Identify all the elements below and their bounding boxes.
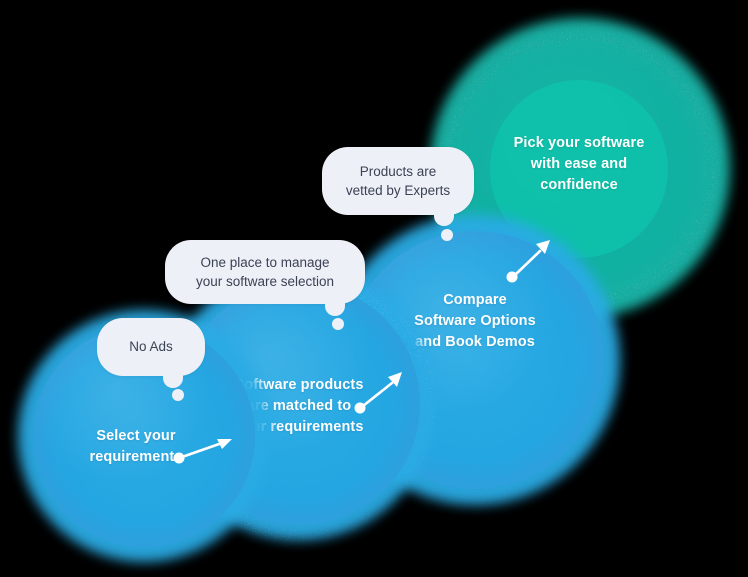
bubble-no-ads-text: No Ads (129, 337, 173, 356)
bubble-vetted-text: Products are vetted by Experts (346, 162, 450, 200)
bubble-one-place-text: One place to manage your software select… (196, 253, 334, 291)
stage-4-label: Pick your software with ease and confide… (489, 133, 669, 196)
arrow-stage-1-to-2 (170, 430, 260, 490)
bubble-one-place-tail-dot (332, 318, 344, 330)
bubble-vetted-tail (434, 206, 454, 226)
bubble-no-ads-line-1: No Ads (129, 337, 173, 356)
bubble-no-ads-tail (163, 368, 183, 388)
bubble-vetted-line-1: Products are (346, 162, 450, 181)
arrow-stage-3-to-4 (500, 232, 580, 302)
arrow-stage-2-to-3 (352, 364, 432, 424)
bubble-one-place-line-1: One place to manage (196, 253, 334, 272)
infographic-canvas: Pick your software with ease and confide… (0, 0, 748, 577)
bubble-no-ads[interactable]: No Ads (97, 318, 205, 376)
bubble-one-place-line-2: your software selection (196, 272, 334, 291)
bubble-no-ads-tail-dot (172, 389, 184, 401)
bubble-one-place-tail (325, 296, 345, 316)
stage-4-label-line-1: Pick your software (489, 133, 669, 154)
stage-4-label-line-3: confidence (489, 175, 669, 196)
stage-4-label-line-2: with ease and (489, 154, 669, 175)
bubble-vetted-tail-dot (441, 229, 453, 241)
